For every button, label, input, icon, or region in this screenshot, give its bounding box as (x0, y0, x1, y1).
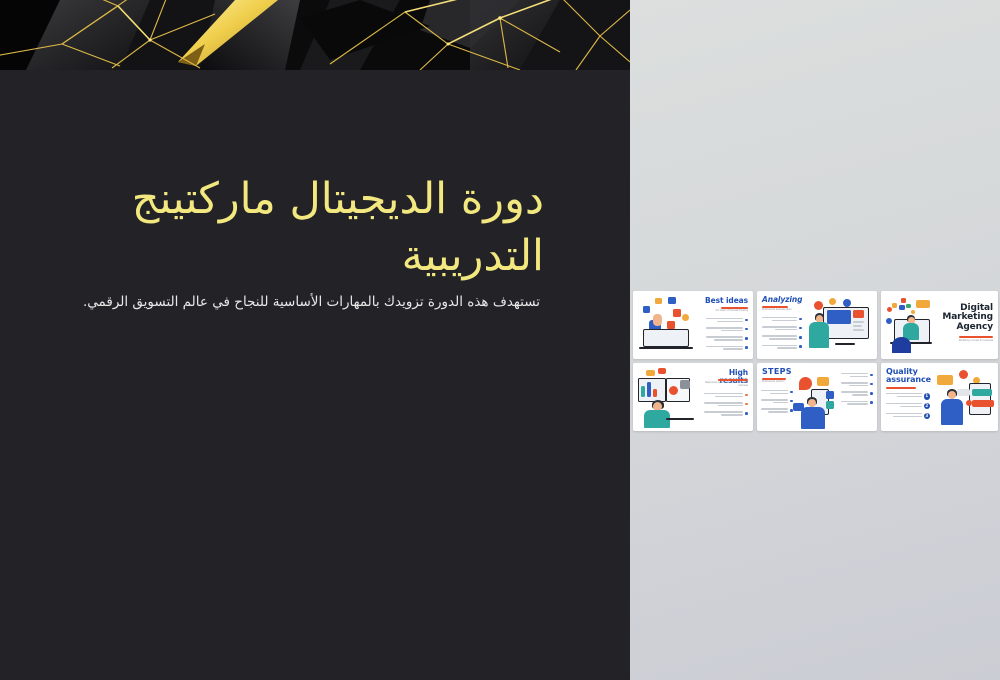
bullet-dot (870, 374, 873, 377)
bullet-dot (745, 319, 748, 322)
step-number: 3 (924, 413, 931, 420)
course-title: دورة الديجيتال ماركتينج التدريبية (44, 171, 544, 285)
bullet-lines (886, 403, 922, 409)
bullet-dot (745, 403, 748, 406)
thumb-bullets (706, 318, 748, 355)
bullet-lines (704, 402, 743, 408)
bullet-dot (799, 318, 802, 321)
thumb-bullets (762, 317, 802, 354)
bullet-dot (745, 328, 748, 331)
bullet-dot (870, 383, 873, 386)
slide-thumbnail-quality-assurance[interactable]: Quality assurance 1 2 3 (881, 363, 998, 431)
thumb-subtitle: Responsive & modern oriented of sales bu… (704, 382, 748, 388)
bullet-dot (745, 412, 748, 415)
bullet-dot (745, 337, 748, 340)
thumb-title: Analyzing (762, 296, 804, 304)
thumb-subtitle: Marketing concept for business (947, 340, 993, 343)
thumb-icon-list (704, 393, 748, 421)
bullet-lines (762, 335, 797, 341)
illustration-monitor-person (805, 295, 873, 357)
bullet-lines (762, 317, 797, 323)
thumb-rule (959, 336, 993, 338)
thumb-numbered-list: 1 2 3 (886, 393, 930, 423)
left-preview-panel: Digital Marketing Agency Marketing conce… (630, 0, 1000, 680)
thumb-rule (886, 387, 916, 389)
bullet-lines (886, 413, 922, 419)
bullet-dot (745, 346, 748, 349)
bullet-lines (704, 411, 743, 417)
bullet-lines (886, 393, 922, 399)
thumb-title: Quality assurance (886, 368, 932, 385)
bullet-dot (870, 392, 873, 395)
gold-geometric-banner (0, 0, 630, 70)
bullet-lines (761, 408, 788, 414)
bullet-dot (799, 345, 802, 348)
thumb-bullets-right (841, 373, 873, 410)
bullet-lines (762, 345, 797, 351)
bullet-lines (841, 401, 868, 407)
bullet-lines (762, 326, 797, 332)
slide-thumbnail-high-results[interactable]: High results Responsive & modern oriente… (633, 363, 753, 431)
hero-content: دورة الديجيتال ماركتينج التدريبية تستهدف… (0, 70, 630, 680)
slide-thumbnail-digital-marketing-agency[interactable]: Digital Marketing Agency Marketing conce… (881, 291, 998, 359)
slide-thumbnail-steps[interactable]: STEPS Professional solution (757, 363, 877, 431)
bullet-lines (841, 391, 868, 397)
course-subtitle: تستهدف هذه الدورة تزويدك بالمهارات الأسا… (40, 292, 540, 312)
bullet-lines (841, 373, 868, 379)
bullet-dot (745, 394, 748, 397)
bullet-lines (706, 346, 743, 352)
illustration-laptop-person (885, 297, 939, 353)
bullet-dot (799, 327, 802, 330)
illustration-phone-person (793, 369, 843, 429)
step-number: 2 (924, 403, 931, 410)
bullet-dot (870, 401, 873, 404)
thumb-subtitle: Professional business team (762, 309, 802, 312)
thumb-bullets-left (761, 390, 793, 418)
course-hero-panel: دورة الديجيتال ماركتينج التدريبية تستهدف… (0, 0, 630, 680)
step-number: 1 (924, 393, 931, 400)
bullet-lines (841, 382, 868, 388)
bullet-lines (704, 393, 743, 399)
bullet-dot (799, 336, 802, 339)
illustration-megaphone-person (933, 367, 995, 429)
thumb-title: Best ideas (704, 297, 748, 305)
slide-thumbnail-analyzing[interactable]: Analyzing Professional business team (757, 291, 877, 359)
bullet-lines (706, 336, 743, 342)
thumb-title: Digital Marketing Agency (941, 304, 993, 332)
bullet-lines (706, 318, 743, 324)
illustration-laptop-hand (637, 296, 701, 356)
bullet-lines (706, 327, 743, 333)
slide-thumbnail-grid[interactable]: Digital Marketing Agency Marketing conce… (634, 291, 998, 431)
bullet-lines (761, 390, 788, 396)
illustration-chart-person (636, 368, 698, 428)
slide-thumbnail-best-ideas[interactable]: Best ideas Our team of the best thinking (633, 291, 753, 359)
thumb-subtitle: Our team of the best thinking (706, 310, 748, 313)
slide-page: Digital Marketing Agency Marketing conce… (0, 0, 1000, 680)
bullet-lines (761, 399, 788, 405)
